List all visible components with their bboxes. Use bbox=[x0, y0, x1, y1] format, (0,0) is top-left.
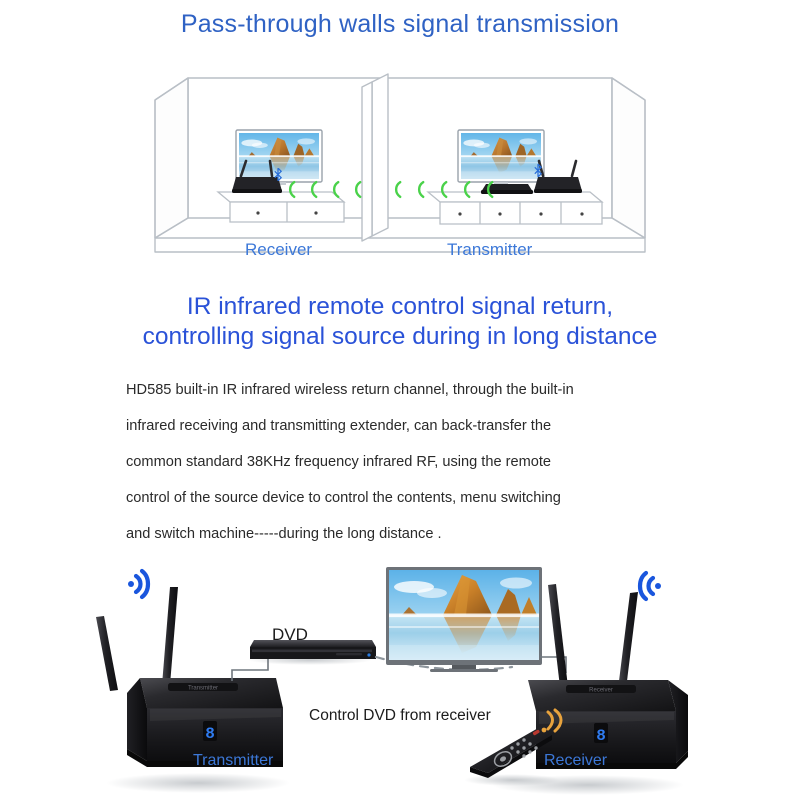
wifi-icon-transmitter bbox=[128, 571, 148, 597]
transmitter-badge-text: Transmitter bbox=[188, 686, 218, 692]
dividing-wall bbox=[362, 74, 388, 241]
room-cabinet-right bbox=[428, 192, 602, 224]
device-label-receiver: Receiver bbox=[544, 752, 607, 770]
description-paragraph: HD585 built-in IR infrared wireless retu… bbox=[126, 372, 678, 552]
section-title-line-2: controlling signal source during in long… bbox=[0, 322, 800, 352]
device-label-transmitter: Transmitter bbox=[193, 752, 273, 770]
device-diagram: Transmitter 8 bbox=[0, 545, 800, 800]
paragraph-line-3: common standard 38KHz frequency infrared… bbox=[126, 444, 678, 480]
flat-tv bbox=[386, 567, 566, 673]
room-tv-right bbox=[458, 130, 544, 185]
transmitter-display-digit: 8 bbox=[205, 725, 215, 743]
dvd-label: DVD bbox=[272, 625, 308, 645]
page-title-pass-through: Pass-through walls signal transmission bbox=[0, 8, 800, 40]
room-tv-left bbox=[236, 130, 322, 185]
receiver-display-digit: 8 bbox=[596, 727, 606, 745]
room-label-receiver: Receiver bbox=[245, 240, 312, 260]
paragraph-line-1: HD585 built-in IR infrared wireless retu… bbox=[126, 372, 678, 408]
dvd-player bbox=[232, 640, 376, 681]
room-diagram bbox=[100, 60, 700, 270]
product-infographic-page: Pass-through walls signal transmission bbox=[0, 0, 800, 800]
room-label-transmitter: Transmitter bbox=[447, 240, 532, 260]
receiver-badge-text: Receiver bbox=[589, 688, 613, 694]
control-dvd-caption: Control DVD from receiver bbox=[309, 707, 491, 725]
section-title-ir-return: IR infrared remote control signal return… bbox=[0, 292, 800, 352]
paragraph-line-2: infrared receiving and transmitting exte… bbox=[126, 408, 678, 444]
room-cabinet-left bbox=[218, 192, 344, 222]
section-title-line-1: IR infrared remote control signal return… bbox=[0, 292, 800, 322]
wifi-icon-receiver bbox=[640, 573, 661, 599]
paragraph-line-4: control of the source device to control … bbox=[126, 480, 678, 516]
